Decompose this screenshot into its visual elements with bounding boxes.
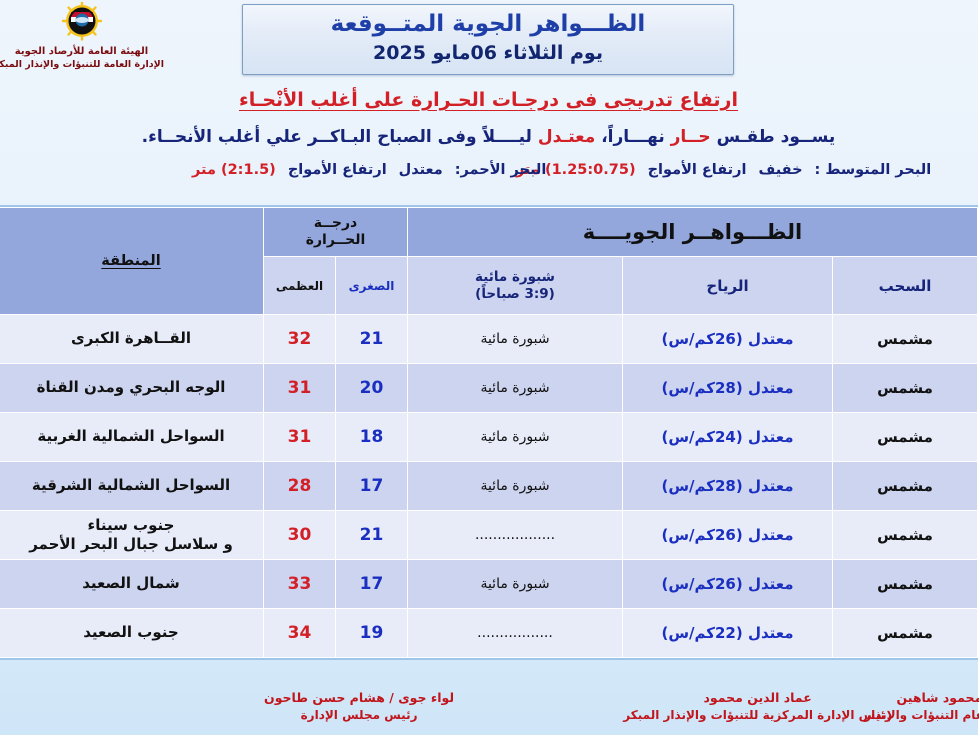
forecast-table: الظـــواهــر الجويــــة درجــة الحــرارة… bbox=[0, 207, 979, 658]
cell-min-temp: 17 bbox=[337, 462, 409, 511]
cell-region: السواحل الشمالية الشرقية bbox=[0, 462, 265, 511]
cell-min-temp: 19 bbox=[337, 609, 409, 658]
table-row: مشمس معتدل (28كم/س) شبورة مائية 20 31 ال… bbox=[0, 364, 979, 413]
cell-region: القــاهرة الكبرى bbox=[0, 315, 265, 364]
mediterranean-state: خفيف bbox=[759, 162, 803, 178]
table-row: مشمس معتدل (26كم/س) شبورة مائية 17 33 شم… bbox=[0, 560, 979, 609]
sea-conditions-row: البحر المتوسط :خفيفارتفاع الأمواج(1.25:0… bbox=[0, 160, 979, 190]
cell-mist: ................. bbox=[409, 609, 624, 658]
cell-mist: شبورة مائية bbox=[409, 413, 624, 462]
summary-text-1: يســود طقـس bbox=[712, 127, 837, 147]
red-sea-state: معتدل bbox=[400, 162, 444, 178]
forecast-date: يوم الثلاثاء 06مايو 2025 bbox=[244, 41, 734, 66]
region-name: السواحل الشمالية الغربية bbox=[0, 427, 264, 447]
cell-clouds: مشمس bbox=[834, 315, 979, 364]
cell-clouds: مشمس bbox=[834, 511, 979, 560]
summary-highlight-moderate: معتـدل bbox=[539, 127, 596, 147]
alert-headline: ارتفاع تدريجى فى درجـات الحـرارة على أغل… bbox=[0, 88, 979, 114]
region-name: شمال الصعيد bbox=[0, 574, 264, 594]
cell-clouds: مشمس bbox=[834, 560, 979, 609]
signature-name: عماد الدين محمود bbox=[624, 690, 893, 707]
region-name: جنوب سيناء bbox=[0, 516, 264, 536]
mediterranean-waves-label: ارتفاع الأمواج bbox=[649, 162, 748, 178]
cell-max-temp: 32 bbox=[265, 315, 337, 364]
forecast-table-container: الظـــواهــر الجويــــة درجــة الحــرارة… bbox=[0, 205, 979, 660]
region-name: جنوب الصعيد bbox=[0, 623, 264, 643]
cell-wind: معتدل (26كم/س) bbox=[624, 315, 834, 364]
signature-title: رئيس مجلس الإدارة bbox=[265, 707, 455, 723]
cell-clouds: مشمس bbox=[834, 609, 979, 658]
header-region: المنطقة bbox=[0, 208, 265, 315]
cell-wind: معتدل (26كم/س) bbox=[624, 560, 834, 609]
table-row: مشمس معتدل (24كم/س) شبورة مائية 18 31 ال… bbox=[0, 413, 979, 462]
subheader-mist: شبورة مائية (3:9 صباحاً) bbox=[409, 257, 624, 315]
cell-region: جنوب سيناء و سلاسل جبال البحر الأحمر bbox=[0, 511, 265, 560]
cell-min-temp: 21 bbox=[337, 511, 409, 560]
forecast-table-body: مشمس معتدل (26كم/س) شبورة مائية 21 32 ال… bbox=[0, 315, 979, 658]
header-group-phenomena: الظـــواهــر الجويــــة bbox=[409, 208, 979, 257]
forecast-title-box: الظـــواهر الجوية المتــوقعة يوم الثلاثا… bbox=[243, 4, 735, 75]
cell-min-temp: 21 bbox=[337, 315, 409, 364]
mediterranean-label: البحر المتوسط : bbox=[816, 162, 933, 178]
cell-region: الوجه البحري ومدن القناة bbox=[0, 364, 265, 413]
cell-max-temp: 31 bbox=[265, 413, 337, 462]
cell-mist: شبورة مائية bbox=[409, 364, 624, 413]
cell-max-temp: 30 bbox=[265, 511, 337, 560]
signature-title: رئيس الإدارة المركزية للتنبؤات والإنذار … bbox=[624, 707, 893, 723]
header-temp-line2: الحــرارة bbox=[265, 232, 408, 249]
red-sea-label: البحر الأحمر: bbox=[456, 162, 548, 178]
cell-wind: معتدل (28كم/س) bbox=[624, 462, 834, 511]
cell-region: جنوب الصعيد bbox=[0, 609, 265, 658]
cell-clouds: مشمس bbox=[834, 413, 979, 462]
cell-max-temp: 34 bbox=[265, 609, 337, 658]
subheader-mist-line2: (3:9 صباحاً) bbox=[409, 286, 623, 303]
cell-min-temp: 17 bbox=[337, 560, 409, 609]
cell-mist: شبورة مائية bbox=[409, 462, 624, 511]
table-row: مشمس معتدل (28كم/س) شبورة مائية 17 28 ال… bbox=[0, 462, 979, 511]
subheader-max-temp: العظمى bbox=[265, 257, 337, 315]
summary-text-3: ليــــلاً وفى الصباح البـاكــر علي أغلب … bbox=[143, 127, 539, 147]
table-row: مشمس معتدل (26كم/س) شبورة مائية 21 32 ال… bbox=[0, 315, 979, 364]
red-sea-conditions: البحر الأحمر:معتدلارتفاع الأمواج(2:1.5) … bbox=[193, 162, 547, 178]
header-temp-line1: درجــة bbox=[265, 215, 408, 232]
page-header: الهيئة العامة للأرصاد الجوية الإدارة الع… bbox=[0, 0, 979, 82]
region-name-line2: و سلاسل جبال البحر الأحمر bbox=[0, 535, 264, 555]
cell-region: السواحل الشمالية الغربية bbox=[0, 413, 265, 462]
red-sea-waves-label: ارتفاع الأمواج bbox=[289, 162, 388, 178]
signature-board-chairman: لواء جوى / هشام حسن طاحون رئيس مجلس الإد… bbox=[265, 690, 455, 723]
cell-min-temp: 20 bbox=[337, 364, 409, 413]
signature-central-admin-head: عماد الدين محمود رئيس الإدارة المركزية ل… bbox=[624, 690, 893, 723]
cell-wind: معتدل (22كم/س) bbox=[624, 609, 834, 658]
cell-wind: معتدل (24كم/س) bbox=[624, 413, 834, 462]
subheader-min-temp: الصغرى bbox=[337, 257, 409, 315]
cell-wind: معتدل (26كم/س) bbox=[624, 511, 834, 560]
cell-max-temp: 33 bbox=[265, 560, 337, 609]
table-row: مشمس معتدل (26كم/س) .................. 2… bbox=[0, 511, 979, 560]
summary-text-2: نهـــاراً، bbox=[596, 127, 671, 147]
cell-clouds: مشمس bbox=[834, 462, 979, 511]
cell-mist: شبورة مائية bbox=[409, 560, 624, 609]
authority-brand: الهيئة العامة للأرصاد الجوية الإدارة الع… bbox=[0, 2, 165, 70]
page-title: الظـــواهر الجوية المتــوقعة bbox=[244, 10, 734, 39]
cell-max-temp: 28 bbox=[265, 462, 337, 511]
cell-max-temp: 31 bbox=[265, 364, 337, 413]
region-name: السواحل الشمالية الشرقية bbox=[0, 476, 264, 496]
subheader-mist-line1: شبورة مائية bbox=[409, 269, 623, 286]
authority-name-line2: الإدارة العامة للتنبؤات والإنذار المبكر bbox=[0, 59, 165, 71]
cell-wind: معتدل (28كم/س) bbox=[624, 364, 834, 413]
region-name: القــاهرة الكبرى bbox=[0, 329, 264, 349]
summary-highlight-hot: حــار bbox=[672, 127, 712, 147]
forecast-summary: يســود طقـس حــار نهـــاراً، معتـدل ليــ… bbox=[0, 126, 979, 150]
signature-name: لواء جوى / هشام حسن طاحون bbox=[265, 690, 455, 707]
table-row: مشمس معتدل (22كم/س) ................. 19… bbox=[0, 609, 979, 658]
cell-mist: شبورة مائية bbox=[409, 315, 624, 364]
cell-mist: .................. bbox=[409, 511, 624, 560]
cell-min-temp: 18 bbox=[337, 413, 409, 462]
mediterranean-sea-conditions: البحر المتوسط :خفيفارتفاع الأمواج(1.25:0… bbox=[517, 162, 932, 178]
egypt-meteorological-authority-logo-icon bbox=[58, 2, 108, 46]
authority-name-line1: الهيئة العامة للأرصاد الجوية bbox=[0, 46, 165, 59]
region-name: الوجه البحري ومدن القناة bbox=[0, 378, 264, 398]
header-group-temperature: درجــة الحــرارة bbox=[265, 208, 409, 257]
red-sea-waves-value: (2:1.5) متر bbox=[193, 162, 277, 178]
page-footer: محمود شاهين مدير عام التنبؤات والإنذار ع… bbox=[0, 690, 979, 735]
subheader-clouds: السحب bbox=[834, 257, 979, 315]
table-header-group-row: الظـــواهــر الجويــــة درجــة الحــرارة… bbox=[0, 208, 979, 257]
cell-clouds: مشمس bbox=[834, 364, 979, 413]
cell-region: شمال الصعيد bbox=[0, 560, 265, 609]
subheader-wind: الرياح bbox=[624, 257, 834, 315]
